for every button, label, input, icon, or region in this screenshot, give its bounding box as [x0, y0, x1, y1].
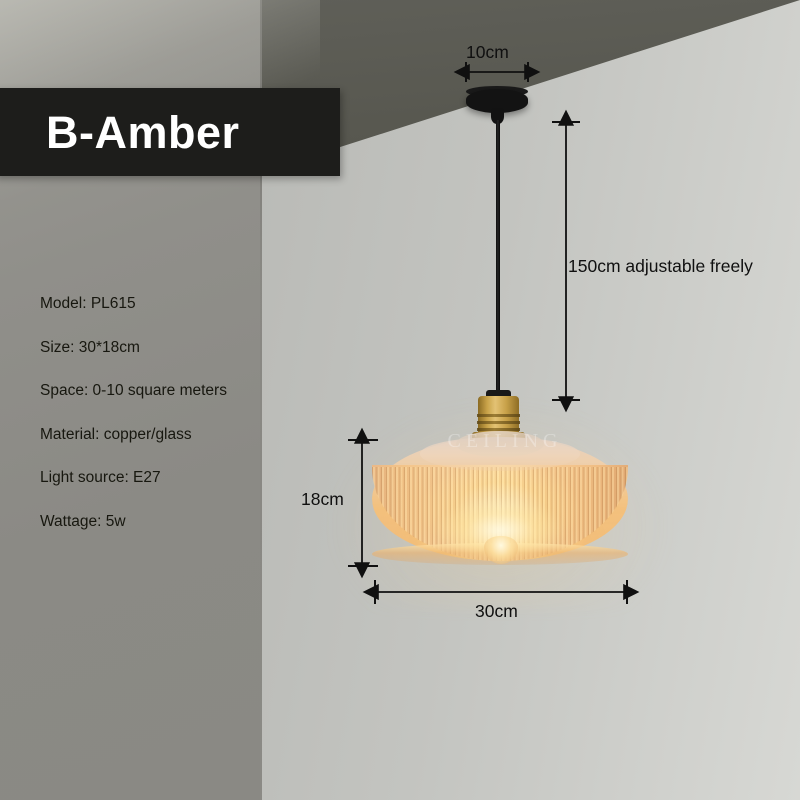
dimension-label-shade-height: 18cm: [301, 491, 344, 509]
spec-line-wattage: Wattage: 5w: [40, 514, 265, 530]
spec-line-material: Material: copper/glass: [40, 427, 265, 443]
variant-title-banner: B-Amber: [0, 88, 340, 176]
dimension-label-drop-length: 150cm adjustable freely: [568, 258, 753, 276]
spec-line-model: Model: PL615: [40, 296, 265, 312]
product-spec-image: CEILING: [0, 0, 800, 800]
specification-list: Model: PL615 Size: 30*18cm Space: 0-10 s…: [40, 296, 265, 557]
variant-title-text: B-Amber: [0, 110, 240, 155]
spec-line-light-source: Light source: E27: [40, 470, 265, 486]
dimension-label-canopy-width: 10cm: [466, 44, 509, 62]
dimension-label-shade-diameter: 30cm: [475, 603, 518, 621]
spec-line-space: Space: 0-10 square meters: [40, 383, 265, 399]
spec-line-size: Size: 30*18cm: [40, 340, 265, 356]
